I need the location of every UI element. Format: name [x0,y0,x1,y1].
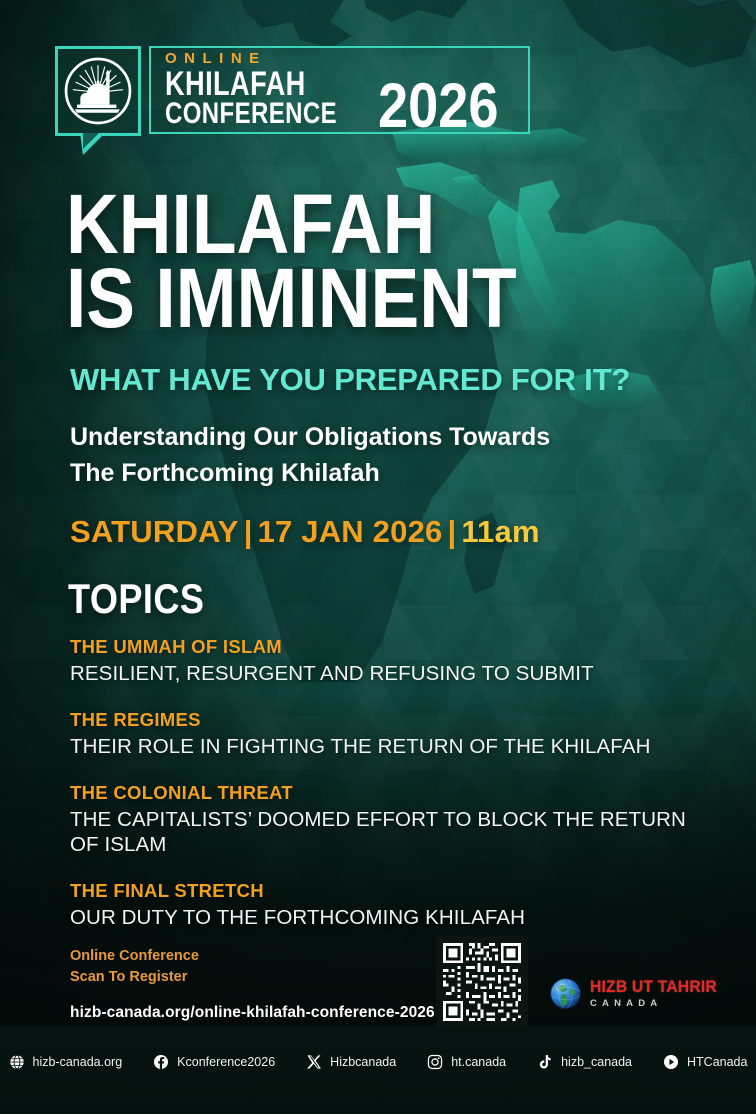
topics-list: THE UMMAH OF ISLAM RESILIENT, RESURGENT … [70,636,690,953]
registration-block: Online Conference Scan To Register hizb-… [70,946,470,1022]
topic-item: THE FINAL STRETCH OUR DUTY TO THE FORTHC… [70,880,690,931]
description-line-2: The Forthcoming Khilafah [70,456,550,492]
social-link-youtube[interactable]: HTCanada [663,1054,747,1070]
social-handle: ht.canada [451,1055,506,1069]
brand-lockup: ONLINE KHILAFAH CONFERENCE 2026 [55,46,530,136]
topic-description: THE CAPITALISTS’ DOOMED EFFORT TO BLOCK … [70,807,690,859]
topic-heading: THE FINAL STRETCH [70,880,690,902]
instagram-icon [427,1054,443,1070]
event-day: SATURDAY [70,514,239,549]
social-handle: hizb-canada.org [33,1055,123,1069]
social-link-instagram[interactable]: ht.canada [427,1054,506,1070]
registration-line-1: Online Conference [70,946,470,967]
topic-description: OUR DUTY TO THE FORTHCOMING KHILAFAH [70,905,690,931]
brand-line-conference: CONFERENCE [165,100,337,129]
dateline-separator-2: | [447,514,456,549]
brand-wordmark-box: ONLINE KHILAFAH CONFERENCE 2026 [149,46,530,134]
social-handle: HTCanada [687,1055,747,1069]
social-handle: hizb_canada [561,1055,632,1069]
topic-heading: THE UMMAH OF ISLAM [70,636,690,658]
social-link-facebook[interactable]: Kconference2026 [153,1054,275,1070]
qr-code[interactable] [436,936,528,1028]
event-date: 17 JAN 2026 [258,514,443,549]
brand-year: 2026 [378,82,499,131]
subheadline: WHAT HAVE YOU PREPARED FOR IT? [70,362,630,398]
topic-item: THE COLONIAL THREAT THE CAPITALISTS’ DOO… [70,782,690,859]
globe-icon [9,1054,25,1070]
topic-item: THE UMMAH OF ISLAM RESILIENT, RESURGENT … [70,636,690,687]
registration-line-2: Scan To Register [70,967,470,988]
facebook-icon [153,1054,169,1070]
dateline-separator-1: | [244,514,253,549]
qr-code-icon [440,940,524,1024]
registration-url[interactable]: hizb-canada.org/online-khilafah-conferen… [70,1004,470,1022]
topic-item: THE REGIMES THEIR ROLE IN FIGHTING THE R… [70,709,690,760]
organization-country: CANADA [590,999,724,1009]
youtube-icon [663,1054,679,1070]
topic-heading: THE REGIMES [70,709,690,731]
conference-poster: ONLINE KHILAFAH CONFERENCE 2026 KHILAFAH… [0,0,756,1114]
headline-line-2: IS IMMINENT [66,262,517,336]
social-link-tiktok[interactable]: hizb_canada [537,1054,632,1070]
globe-icon [549,977,582,1010]
social-link-x[interactable]: Hizbcanada [306,1054,396,1070]
social-handle: Hizbcanada [330,1055,396,1069]
topic-heading: THE COLONIAL THREAT [70,782,690,804]
description-line-1: Understanding Our Obligations Towards [70,420,550,456]
social-link-website[interactable]: hizb-canada.org [9,1054,123,1070]
topic-description: THEIR ROLE IN FIGHTING THE RETURN OF THE… [70,734,690,760]
description: Understanding Our Obligations Towards Th… [70,420,550,491]
social-links-bar: hizb-canada.org Kconference2026 Hizbcana… [0,1054,756,1070]
organization-name: HIZB UT TAHRIR [590,979,717,996]
tiktok-icon [537,1054,553,1070]
brand-line-khilafah: KHILAFAH [165,69,337,100]
event-time: 11am [461,514,539,549]
emblem-badge [55,46,141,136]
mosque-sunrise-emblem-icon [64,57,132,125]
organization-logo: HIZB UT TAHRIR CANADA [549,977,724,1010]
topic-description: RESILIENT, RESURGENT AND REFUSING TO SUB… [70,661,690,687]
topics-section-title: TOPICS [68,575,204,623]
event-dateline: SATURDAY|17 JAN 2026|11am [70,514,540,550]
x-twitter-icon [306,1054,322,1070]
social-handle: Kconference2026 [177,1055,275,1069]
headline: KHILAFAH IS IMMINENT [66,188,584,336]
